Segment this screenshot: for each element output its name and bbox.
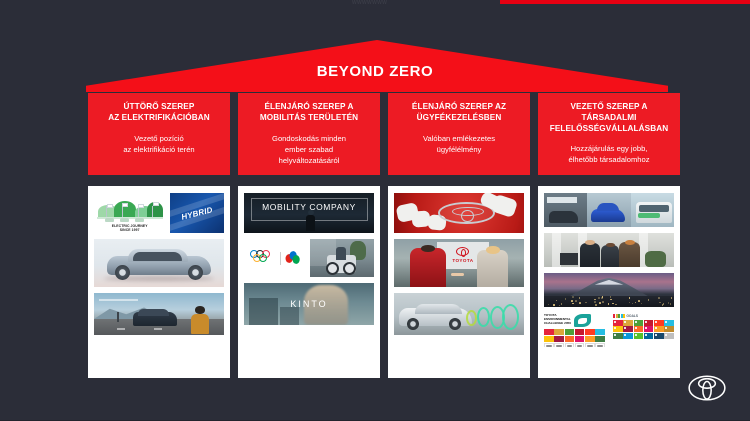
photo-car-green-swirl xyxy=(394,293,524,335)
sign-board xyxy=(560,253,578,265)
pillar-subtitle-line1: Hozzájárulás egy jobb, xyxy=(568,143,649,154)
photo-mount-fuji-skyline xyxy=(544,273,674,307)
car-wheel xyxy=(449,318,461,330)
logo-header: TOYOTA ENVIRONMENTAL CHALLENGE 2050 xyxy=(544,314,605,327)
person-figure xyxy=(189,306,211,334)
wheelchair-wheel xyxy=(326,262,339,275)
city-light xyxy=(648,299,650,301)
city-light xyxy=(638,300,640,302)
road-marking xyxy=(117,328,125,330)
toyota-environmental-challenge-logo: TOYOTA ENVIRONMENTAL CHALLENGE 2050 xyxy=(544,314,605,347)
pillar-title-line1: VEZETŐ SZEREP A xyxy=(550,102,669,113)
sdg-color-cell xyxy=(654,320,664,326)
electric-journey-infographic: ELECTRIC JOURNEY SINCE 1997 xyxy=(94,193,165,233)
city-light xyxy=(594,299,596,301)
env-color-tiles xyxy=(544,329,605,342)
pillar-subtitle-line1: Gondoskodás minden xyxy=(272,133,346,144)
city-light xyxy=(602,301,604,303)
photo-kinto-brand: KINTO xyxy=(244,283,374,325)
sdg-color-cell xyxy=(623,320,633,326)
presentation-slide: WWWWWWW BEYOND ZERO ÚTTÖRŐ SZEREP AZ ELE… xyxy=(0,0,750,421)
top-red-accent-bar xyxy=(500,0,750,4)
collage-segment-blue-car xyxy=(587,193,630,227)
person-figure xyxy=(336,247,346,260)
city-light xyxy=(556,300,558,302)
car-wheel xyxy=(115,265,130,280)
pillar-subtitle-line2: ügyfélélmény xyxy=(423,144,495,155)
photo-mobility-device xyxy=(310,239,374,277)
env-color-tile xyxy=(565,336,575,342)
photo-electric-suv-scene xyxy=(94,293,224,335)
env-icon-row xyxy=(544,343,605,347)
env-color-tile xyxy=(575,329,585,335)
sdg-color-cell xyxy=(634,320,644,326)
olympic-rings-icon xyxy=(250,250,276,266)
greenery-shape xyxy=(645,251,666,267)
infographic-caption: ELECTRIC JOURNEY SINCE 1997 xyxy=(112,224,148,234)
city-light xyxy=(671,297,673,299)
city-light xyxy=(599,302,601,304)
pillar-column-customer: ÉLENJÁRÓ SZEREP AZ ÜGYFÉKEZELÉSBEN Valób… xyxy=(388,93,530,378)
person-figure xyxy=(580,243,600,267)
infographic-caption-line2: SINCE 1997 xyxy=(112,228,148,232)
city-light xyxy=(629,302,631,304)
env-color-tile xyxy=(554,329,564,335)
car-roof xyxy=(415,304,462,314)
pillar-subtitle-line2: ember szabad xyxy=(272,144,346,155)
pillar-title: ÉLENJÁRÓ SZEREP AZ ÜGYFÉKEZELÉSBEN xyxy=(412,102,506,124)
road-marking xyxy=(154,328,162,330)
pillar-column-mobility: ÉLENJÁRÓ SZEREP A MOBILITÁS TERÜLETÉN Go… xyxy=(238,93,380,378)
pillar-card-customer[interactable]: ÉLENJÁRÓ SZEREP AZ ÜGYFÉKEZELÉSBEN Valób… xyxy=(388,93,530,175)
sdg-color-cell xyxy=(644,320,654,326)
challenge-icon xyxy=(575,343,585,347)
sky-line-decoration xyxy=(99,299,138,301)
city-light xyxy=(632,303,634,305)
logo-divider xyxy=(280,252,281,265)
milestone-pin-icon xyxy=(152,206,153,217)
env-color-tile xyxy=(544,329,554,335)
person-figure-staff xyxy=(410,248,446,287)
pillar-column-social-responsibility: VEZETŐ SZEREP A TÁRSADALMI FELELŐSSÉGVÁL… xyxy=(538,93,680,378)
city-light xyxy=(598,297,600,299)
leaf-icon xyxy=(574,314,591,327)
sdg-color-cell xyxy=(654,326,664,332)
city-light xyxy=(629,297,631,299)
env-color-tile xyxy=(595,336,605,342)
car-body xyxy=(549,211,578,223)
env-color-tile xyxy=(554,336,564,342)
collage-segment-bus xyxy=(631,193,674,227)
green-swirl-graphic xyxy=(490,306,505,329)
toyota-emblem-icon xyxy=(456,247,469,256)
city-light xyxy=(579,302,581,304)
media-row-top: ELECTRIC JOURNEY SINCE 1997 HYBRID xyxy=(94,193,224,233)
city-light xyxy=(608,303,610,305)
pillar-subtitle-line2: élhetőbb társadalomhoz xyxy=(568,154,649,165)
pillar-subtitle: Gondoskodás minden ember szabad helyvált… xyxy=(272,133,346,166)
pillar-title-line1: ÚTTÖRŐ SZEREP xyxy=(108,102,210,113)
city-light xyxy=(659,302,661,304)
car-glass xyxy=(133,252,182,261)
pillar-title-line1: ÉLENJÁRÓ SZEREP AZ xyxy=(412,102,506,113)
milestone-pin-icon xyxy=(122,206,123,217)
pillar-card-electrification[interactable]: ÚTTÖRŐ SZEREP AZ ELEKTRIFIKÁCIÓBAN Vezet… xyxy=(88,93,230,175)
logo-title: TOYOTA ENVIRONMENTAL CHALLENGE 2050 xyxy=(544,314,571,326)
pillar-card-social-responsibility[interactable]: VEZETŐ SZEREP A TÁRSADALMI FELELŐSSÉGVÁL… xyxy=(538,93,680,175)
person-head xyxy=(486,246,500,254)
sdg-color-cell xyxy=(613,326,623,332)
sdg-color-cell xyxy=(664,326,674,332)
city-light xyxy=(595,304,597,306)
pillar-subtitle-line1: Valóban emlékezetes xyxy=(423,133,495,144)
presenter-figure xyxy=(306,215,315,232)
city-light xyxy=(548,304,550,306)
challenge-icon xyxy=(585,343,595,347)
sdg-color-cell xyxy=(644,333,654,339)
bus-window xyxy=(639,205,670,211)
banner-title: BEYOND ZERO xyxy=(0,40,750,92)
person-head xyxy=(625,240,635,245)
sdg-color-grid xyxy=(613,320,674,340)
env-color-tile xyxy=(544,336,554,342)
sdg-label: GOALS xyxy=(626,314,638,318)
toyota-logo xyxy=(688,375,726,401)
infographic-car-icons xyxy=(105,218,144,222)
milestone-flag-icon xyxy=(122,203,128,207)
bus-body xyxy=(636,202,672,223)
sdg-color-cell xyxy=(623,326,633,332)
car-icon xyxy=(105,218,114,222)
sdg-logo: GOALS xyxy=(613,314,674,339)
wheelchair-wheel xyxy=(343,262,356,275)
photo-hydrogen-sedan xyxy=(94,239,224,287)
sdg-header: GOALS xyxy=(613,314,674,318)
presenter-head xyxy=(308,210,314,215)
pillar-title: ÚTTÖRŐ SZEREP AZ ELEKTRIFIKÁCIÓBAN xyxy=(108,102,210,124)
paralympic-agitos-icon xyxy=(285,251,300,265)
city-light xyxy=(658,297,660,299)
handshake-shape xyxy=(451,273,464,277)
logo-title-line3: CHALLENGE 2050 xyxy=(544,322,571,326)
city-light xyxy=(579,297,581,299)
ring-shape xyxy=(259,254,267,262)
canopy-shape xyxy=(547,197,577,203)
sdg-color-cell xyxy=(634,326,644,332)
sdg-color-cell xyxy=(613,333,623,339)
pillar-subtitle-line3: helyváltozatásáról xyxy=(272,155,346,166)
person-head xyxy=(585,240,594,245)
sdg-color-cell xyxy=(613,320,623,326)
city-light xyxy=(594,301,596,303)
challenge-icon xyxy=(554,343,564,347)
pillar-media-panel-mobility: MOBILITY COMPANY xyxy=(238,186,380,378)
city-light xyxy=(571,300,573,302)
green-swirl-graphic xyxy=(466,310,477,326)
milestone-flag-icon xyxy=(153,202,159,206)
pillar-column-electrification: ÚTTÖRŐ SZEREP AZ ELEKTRIFIKÁCIÓBAN Vezet… xyxy=(88,93,230,378)
milestone-flag-icon xyxy=(107,204,113,208)
suv-roof xyxy=(138,309,169,316)
pillar-title-line2: AZ ELEKTRIFIKÁCIÓBAN xyxy=(108,113,210,124)
pillar-title-line2: TÁRSADALMI xyxy=(550,113,669,124)
sustainability-logos: TOYOTA ENVIRONMENTAL CHALLENGE 2050 xyxy=(544,313,674,347)
pillar-subtitle: Hozzájárulás egy jobb, élhetőbb társadal… xyxy=(568,143,649,165)
green-swirl-graphic xyxy=(477,307,490,327)
person-figure xyxy=(601,245,619,267)
city-light xyxy=(565,298,567,300)
car-icon xyxy=(135,218,144,222)
car-wheel xyxy=(407,318,419,330)
city-light xyxy=(601,297,603,299)
building-shape xyxy=(249,298,278,325)
pillar-title-line2: MOBILITÁS TERÜLETÉN xyxy=(260,113,358,124)
env-color-tile xyxy=(585,336,595,342)
pillar-title-line3: FELELŐSSÉGVÁLLALÁSBAN xyxy=(550,124,669,135)
kinto-logo-text: KINTO xyxy=(290,299,327,309)
env-color-tile xyxy=(595,329,605,335)
city-light xyxy=(670,303,672,305)
building-shape xyxy=(280,307,298,325)
pillar-media-panel-customer: TOYOTA xyxy=(388,186,530,378)
pillar-media-panel-electrification: ELECTRIC JOURNEY SINCE 1997 HYBRID xyxy=(88,186,230,378)
sdg-bars-icon xyxy=(613,314,625,318)
sdg-bar xyxy=(623,314,625,318)
city-light xyxy=(615,304,617,306)
pillar-columns: ÚTTÖRŐ SZEREP AZ ELEKTRIFIKÁCIÓBAN Vezet… xyxy=(88,93,680,378)
photo-dealership-handshake: TOYOTA xyxy=(394,239,524,287)
env-color-tile xyxy=(575,336,585,342)
top-ghost-text: WWWWWWW xyxy=(352,0,387,6)
milestone-flag-icon xyxy=(138,204,144,208)
city-light xyxy=(585,302,587,304)
dealer-sign-label: TOYOTA xyxy=(452,258,473,263)
person-figure-customer xyxy=(477,250,508,287)
car-body xyxy=(591,209,626,223)
person-body xyxy=(191,314,210,334)
city-light xyxy=(610,296,612,298)
collage-segment-charging xyxy=(544,193,587,227)
city-light xyxy=(553,304,555,306)
olympic-partner-logos xyxy=(244,239,305,277)
city-light xyxy=(572,303,574,305)
car-icon xyxy=(120,218,129,222)
sdg-color-cell xyxy=(654,333,664,339)
pillar-card-mobility[interactable]: ÉLENJÁRÓ SZEREP A MOBILITÁS TERÜLETÉN Go… xyxy=(238,93,380,175)
media-row-middle xyxy=(244,239,374,277)
pillar-title-line2: ÜGYFÉKEZELÉSBEN xyxy=(412,113,506,124)
photo-toyota-emblem-gloves xyxy=(394,193,524,233)
challenge-icon xyxy=(565,343,575,347)
sdg-color-cell xyxy=(634,333,644,339)
city-light xyxy=(662,304,664,306)
pillar-title: VEZETŐ SZEREP A TÁRSADALMI FELELŐSSÉGVÁL… xyxy=(550,102,669,134)
beyond-zero-banner: BEYOND ZERO xyxy=(0,40,750,94)
city-light xyxy=(663,303,665,305)
photo-vehicle-fleet-collage xyxy=(544,193,674,227)
pillar-title: ÉLENJÁRÓ SZEREP A MOBILITÁS TERÜLETÉN xyxy=(260,102,358,124)
sdg-color-cell xyxy=(664,320,674,326)
pillar-media-panel-social-responsibility: TOYOTA ENVIRONMENTAL CHALLENGE 2050 xyxy=(538,186,680,378)
sdg-color-cell xyxy=(664,333,674,339)
city-skyline-shape xyxy=(544,296,674,307)
sdg-color-cell xyxy=(623,333,633,339)
infographic-scene xyxy=(97,199,163,224)
photo-community-people xyxy=(544,233,674,267)
person-head xyxy=(195,306,205,313)
person-figure xyxy=(619,242,640,267)
challenge-icon xyxy=(544,343,554,347)
photo-mobility-company-stage: MOBILITY COMPANY xyxy=(244,193,374,233)
city-light xyxy=(561,303,563,305)
city-light xyxy=(575,300,577,302)
pillar-subtitle: Vezető pozíció az elektrifikáció terén xyxy=(123,133,194,155)
city-light xyxy=(641,303,643,305)
city-light xyxy=(612,303,614,305)
car-roof xyxy=(597,203,620,210)
env-color-tile xyxy=(585,329,595,335)
hybrid-badge-image: HYBRID xyxy=(170,193,224,233)
pillar-title-line1: ÉLENJÁRÓ SZEREP A xyxy=(260,102,358,113)
city-light xyxy=(610,299,612,301)
challenge-icon xyxy=(595,343,605,347)
pillar-subtitle-line2: az elektrifikáció terén xyxy=(123,144,194,155)
sdg-color-cell xyxy=(644,326,654,332)
city-light xyxy=(559,305,561,307)
city-light xyxy=(635,302,637,304)
person-head xyxy=(421,245,436,253)
bus-stripe xyxy=(638,213,660,218)
person-head xyxy=(606,243,615,247)
env-color-tile xyxy=(565,329,575,335)
pillar-subtitle-line1: Vezető pozíció xyxy=(123,133,194,144)
pole-shape xyxy=(117,312,119,323)
pillar-subtitle: Valóban emlékezetes ügyfélélmény xyxy=(423,133,495,155)
city-light xyxy=(572,296,574,298)
